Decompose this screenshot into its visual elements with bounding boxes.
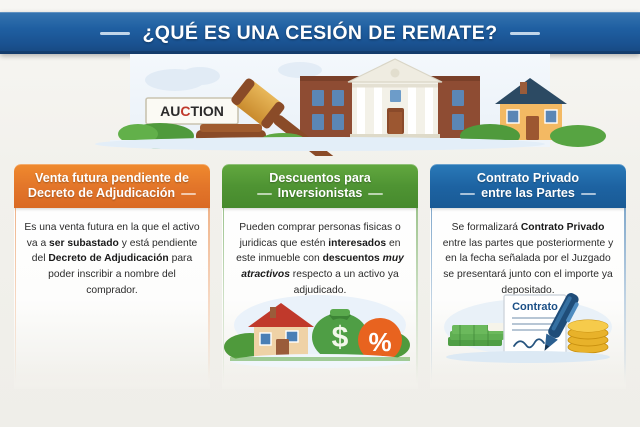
contract-pen-money-illustration: Contrato xyxy=(430,285,626,371)
cards-row: Venta futura pendiente de Decreto de Adj… xyxy=(0,164,640,389)
card-descuentos[interactable]: Descuentos para Inversionistas Pueden co… xyxy=(222,164,418,389)
gold-coins-icon xyxy=(568,320,608,353)
card-venta-futura[interactable]: Venta futura pendiente de Decreto de Adj… xyxy=(14,164,210,389)
card-contrato-privado[interactable]: Contrato Privado entre las Partes Se for… xyxy=(430,164,626,389)
card-header-1: Venta futura pendiente de Decreto de Adj… xyxy=(14,164,210,208)
svg-text:AUCTION: AUCTION xyxy=(160,103,224,119)
card-header-2: Descuentos para Inversionistas xyxy=(222,164,418,208)
card-title-text-3: entre las Partes xyxy=(481,186,575,201)
card-body-1: Es una venta futura en la que el activo … xyxy=(14,208,210,298)
card-title-line2-1: Decreto de Adjudicación xyxy=(28,186,196,201)
card-title-dash-left-icon-3 xyxy=(460,193,475,195)
card-title-line1-1: Venta futura pendiente de xyxy=(35,171,189,186)
dollar-sign-icon: $ xyxy=(332,321,349,354)
infographic-root: ¿QUÉ ES UNA CESIÓN DE REMATE? xyxy=(0,0,640,427)
card-title-text-2: Inversionistas xyxy=(278,186,363,201)
title-banner: ¿QUÉ ES UNA CESIÓN DE REMATE? xyxy=(0,12,640,54)
card-title-line1-3: Contrato Privado xyxy=(477,171,579,186)
hero-illustration: AUCTION xyxy=(0,54,640,156)
svg-text:%: % xyxy=(368,327,391,357)
card-title-line2-3: entre las Partes xyxy=(460,186,596,201)
card-title-dash-left-icon-2 xyxy=(257,193,272,195)
banner-dash-right-icon xyxy=(510,32,540,35)
card-title-line2-2: Inversionistas xyxy=(257,186,384,201)
card-title-line1-2: Descuentos para xyxy=(269,171,371,186)
card-title-dash-right-icon-2 xyxy=(368,193,383,195)
page-title: ¿QUÉ ES UNA CESIÓN DE REMATE? xyxy=(142,22,497,45)
cash-stack-icon xyxy=(448,323,510,346)
card-header-3: Contrato Privado entre las Partes xyxy=(430,164,626,208)
card-title-dash-right-icon-3 xyxy=(581,193,596,195)
card-title-text-1: Decreto de Adjudicación xyxy=(28,186,175,201)
banner-dash-left-icon xyxy=(100,32,130,35)
contract-doc-title: Contrato xyxy=(512,301,558,313)
card-title-dash-icon-1 xyxy=(181,193,196,195)
house-moneybag-percent-illustration: $ % xyxy=(222,285,418,371)
